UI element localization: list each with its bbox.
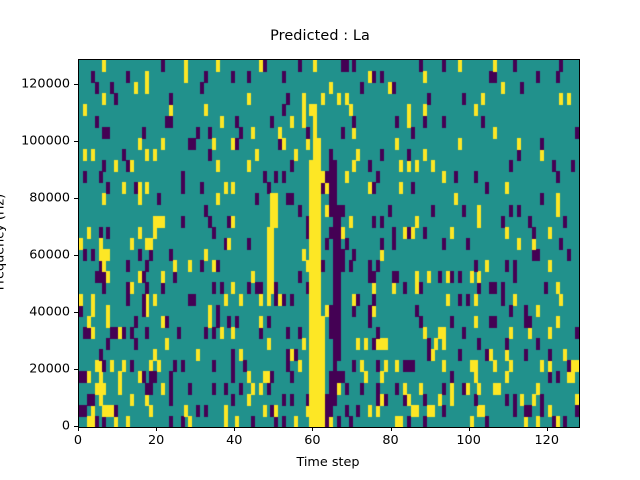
x-tick-mark	[391, 427, 392, 431]
y-tick-label: 120000	[21, 76, 70, 91]
y-tick-mark	[74, 198, 78, 199]
x-tick-label: 120	[535, 433, 559, 448]
figure-canvas: Predicted : La Frequency (Hz) 0204060801…	[0, 0, 640, 480]
heatmap-image	[79, 60, 579, 427]
y-tick-label: 80000	[29, 190, 70, 205]
x-tick-mark	[312, 427, 313, 431]
y-axis-label: Frequency (Hz)	[0, 194, 8, 291]
x-tick-mark	[469, 427, 470, 431]
y-tick-label: 0	[62, 419, 70, 434]
x-tick-label: 20	[148, 433, 164, 448]
x-tick-mark	[234, 427, 235, 431]
y-tick-label: 20000	[29, 361, 70, 376]
chart-title: Predicted : La	[0, 28, 640, 44]
y-tick-label: 60000	[29, 247, 70, 262]
y-tick-mark	[74, 426, 78, 427]
y-tick-mark	[74, 312, 78, 313]
x-tick-mark	[156, 427, 157, 431]
y-tick-mark	[74, 255, 78, 256]
y-tick-label: 100000	[21, 133, 70, 148]
x-tick-label: 100	[456, 433, 480, 448]
x-tick-mark	[78, 427, 79, 431]
x-tick-label: 0	[74, 433, 82, 448]
plot-area	[78, 59, 580, 428]
y-tick-mark	[74, 84, 78, 85]
y-tick-mark	[74, 141, 78, 142]
x-tick-label: 40	[226, 433, 242, 448]
x-tick-label: 60	[304, 433, 320, 448]
y-tick-label: 40000	[29, 304, 70, 319]
x-tick-mark	[547, 427, 548, 431]
x-tick-label: 80	[382, 433, 398, 448]
y-tick-mark	[74, 369, 78, 370]
x-axis-label: Time step	[78, 455, 578, 470]
